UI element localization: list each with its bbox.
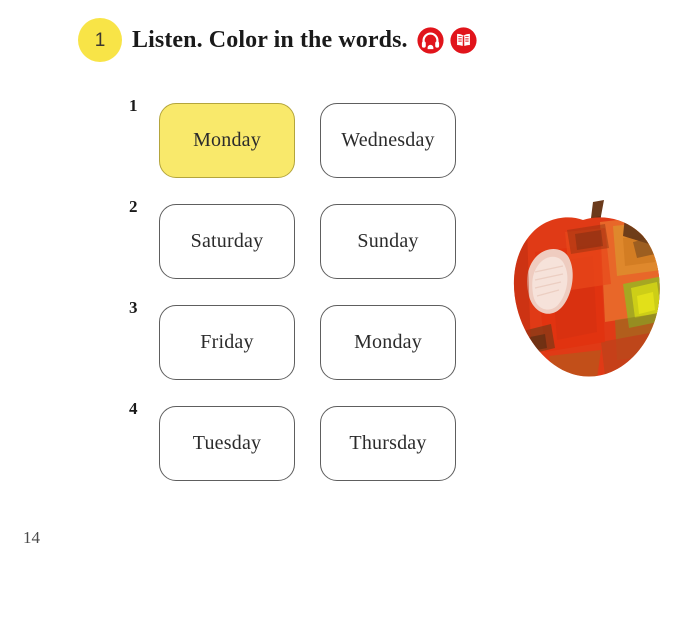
word-box[interactable]: Monday — [320, 305, 456, 380]
row-number: 1 — [129, 96, 151, 116]
apple-illustration — [505, 192, 670, 387]
row-number: 4 — [129, 399, 151, 419]
word-box[interactable]: Saturday — [159, 204, 295, 279]
row-number: 3 — [129, 298, 151, 318]
word-box[interactable]: Monday — [159, 103, 295, 178]
row-number: 2 — [129, 197, 151, 217]
word-box[interactable]: Tuesday — [159, 406, 295, 481]
exercise-header: 1 Listen. Color in the words. — [78, 18, 477, 62]
apple-illustration-svg — [505, 192, 670, 387]
headphones-icon — [417, 27, 444, 54]
apple-body — [505, 192, 670, 387]
word-box[interactable]: Thursday — [320, 406, 456, 481]
page-number: 14 — [23, 528, 40, 548]
exercise-number-badge: 1 — [78, 18, 122, 62]
word-box[interactable]: Friday — [159, 305, 295, 380]
word-box[interactable]: Sunday — [320, 204, 456, 279]
exercise-title: Listen. Color in the words. — [132, 27, 408, 54]
header-icons — [417, 27, 477, 54]
open-book-icon — [450, 27, 477, 54]
word-box[interactable]: Wednesday — [320, 103, 456, 178]
